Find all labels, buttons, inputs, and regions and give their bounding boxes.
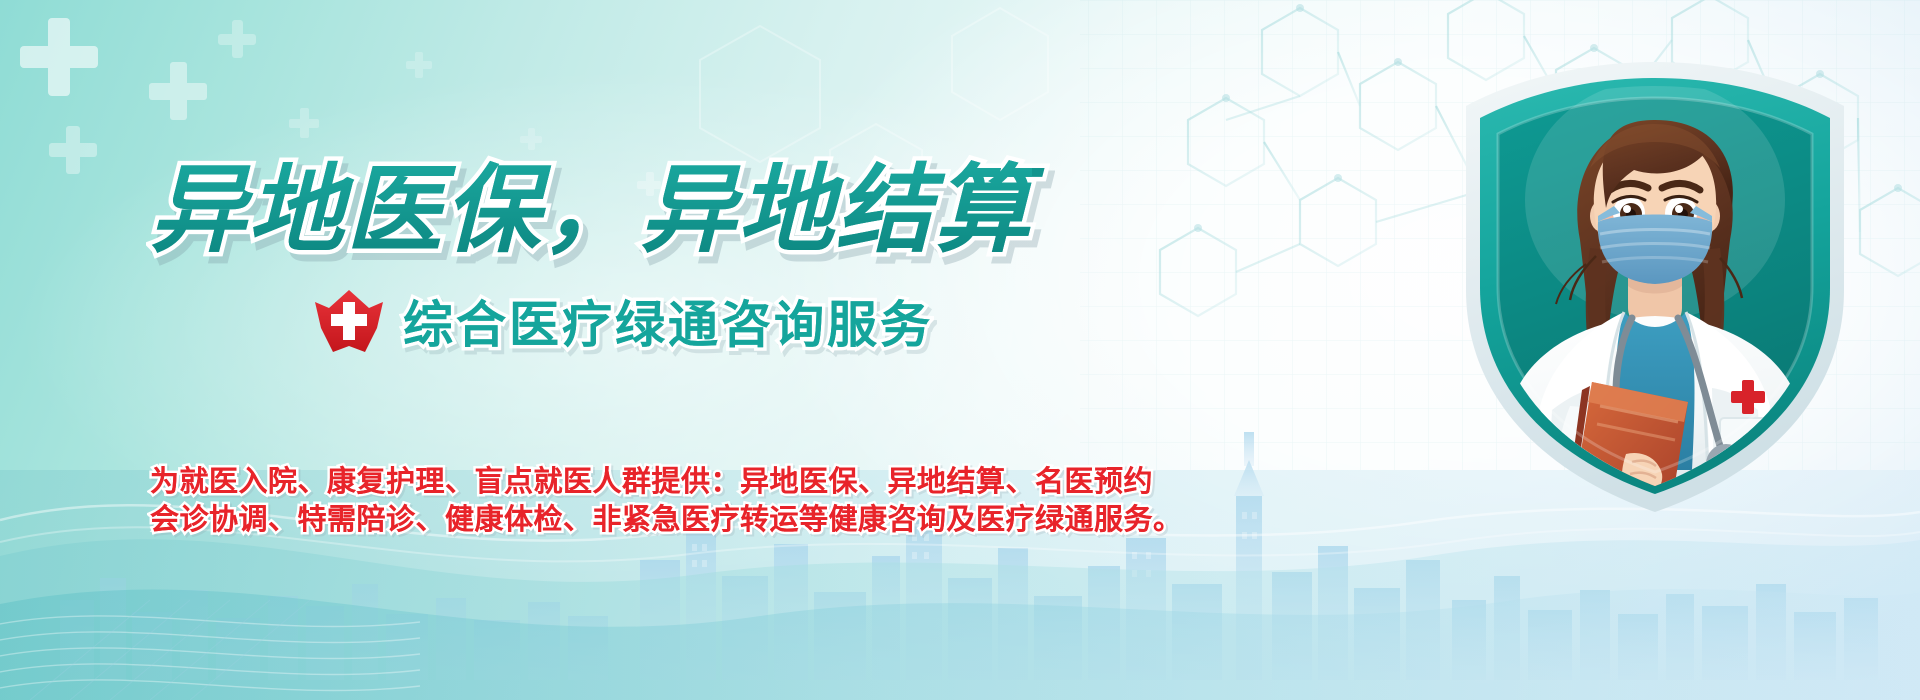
content-block: 异地医保，异地结算 异地医保，异地结算 综合医疗绿通咨询服务 bbox=[0, 0, 1200, 700]
red-cross-shield-icon bbox=[313, 288, 385, 354]
female-doctor-illustration bbox=[1420, 50, 1890, 520]
doctor-shield-badge bbox=[1420, 50, 1890, 520]
description-line-2: 会诊协调、特需陪诊、健康体检、非紧急医疗转运等健康咨询及医疗绿通服务。 bbox=[150, 501, 1183, 539]
banner-description: 为就医入院、康复护理、盲点就医人群提供：异地医保、异地结算、名医预约 为就医入院… bbox=[150, 463, 1090, 539]
page-title: 异地医保，异地结算 bbox=[150, 160, 1032, 262]
subtitle-row: 综合医疗绿通咨询服务 综合医疗绿通咨询服务 bbox=[313, 285, 933, 357]
banner-subtitle: 综合医疗绿通咨询服务 bbox=[403, 285, 933, 357]
medical-service-banner: 异地医保，异地结算 异地医保，异地结算 综合医疗绿通咨询服务 bbox=[0, 0, 1920, 700]
description-line-1: 为就医入院、康复护理、盲点就医人群提供：异地医保、异地结算、名医预约 bbox=[150, 463, 1153, 501]
